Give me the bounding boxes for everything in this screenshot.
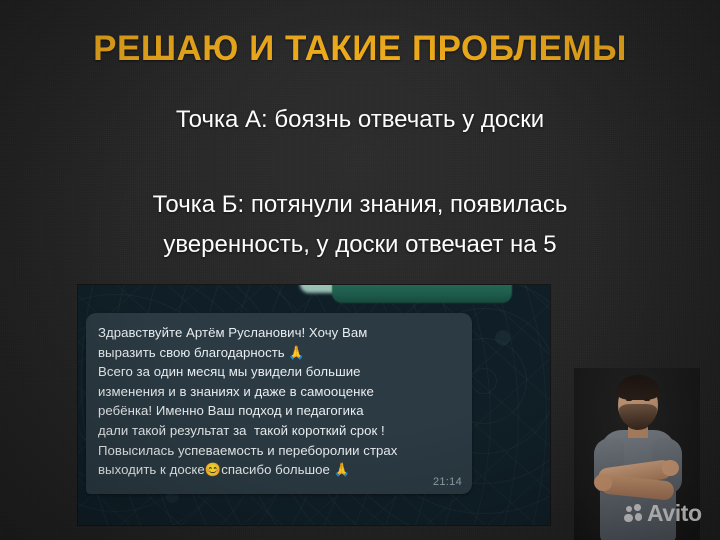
point-a-text: Точка А: боязнь отвечать у доски: [0, 100, 720, 140]
page-title: РЕШАЮ И ТАКИЕ ПРОБЛЕМЫ: [0, 28, 720, 70]
incoming-message-bubble: Здравствуйте Артём Русланович! Хочу Вам …: [86, 313, 472, 494]
point-b-text: Точка Б: потянули знания, появилась увер…: [0, 185, 720, 265]
chat-screenshot: Здравствуйте Артём Русланович! Хочу Вам …: [78, 285, 550, 525]
point-b-line-2: уверенность, у доски отвечает на 5: [0, 225, 720, 265]
avito-dots-icon: [624, 504, 643, 523]
message-text: Здравствуйте Артём Русланович! Хочу Вам …: [98, 323, 460, 480]
outgoing-message-bubble: [332, 285, 512, 303]
point-b-line-1: Точка Б: потянули знания, появилась: [153, 191, 568, 218]
photo-hand-right: [662, 460, 679, 476]
promo-slide: РЕШАЮ И ТАКИЕ ПРОБЛЕМЫ Точка А: боязнь о…: [0, 0, 720, 540]
avito-watermark: Avito: [624, 504, 702, 523]
avito-brand-label: Avito: [647, 504, 702, 523]
photo-eye-left: [626, 398, 632, 401]
photo-hand-left: [594, 474, 612, 491]
message-timestamp: 21:14: [433, 476, 462, 488]
photo-eye-right: [644, 398, 650, 401]
